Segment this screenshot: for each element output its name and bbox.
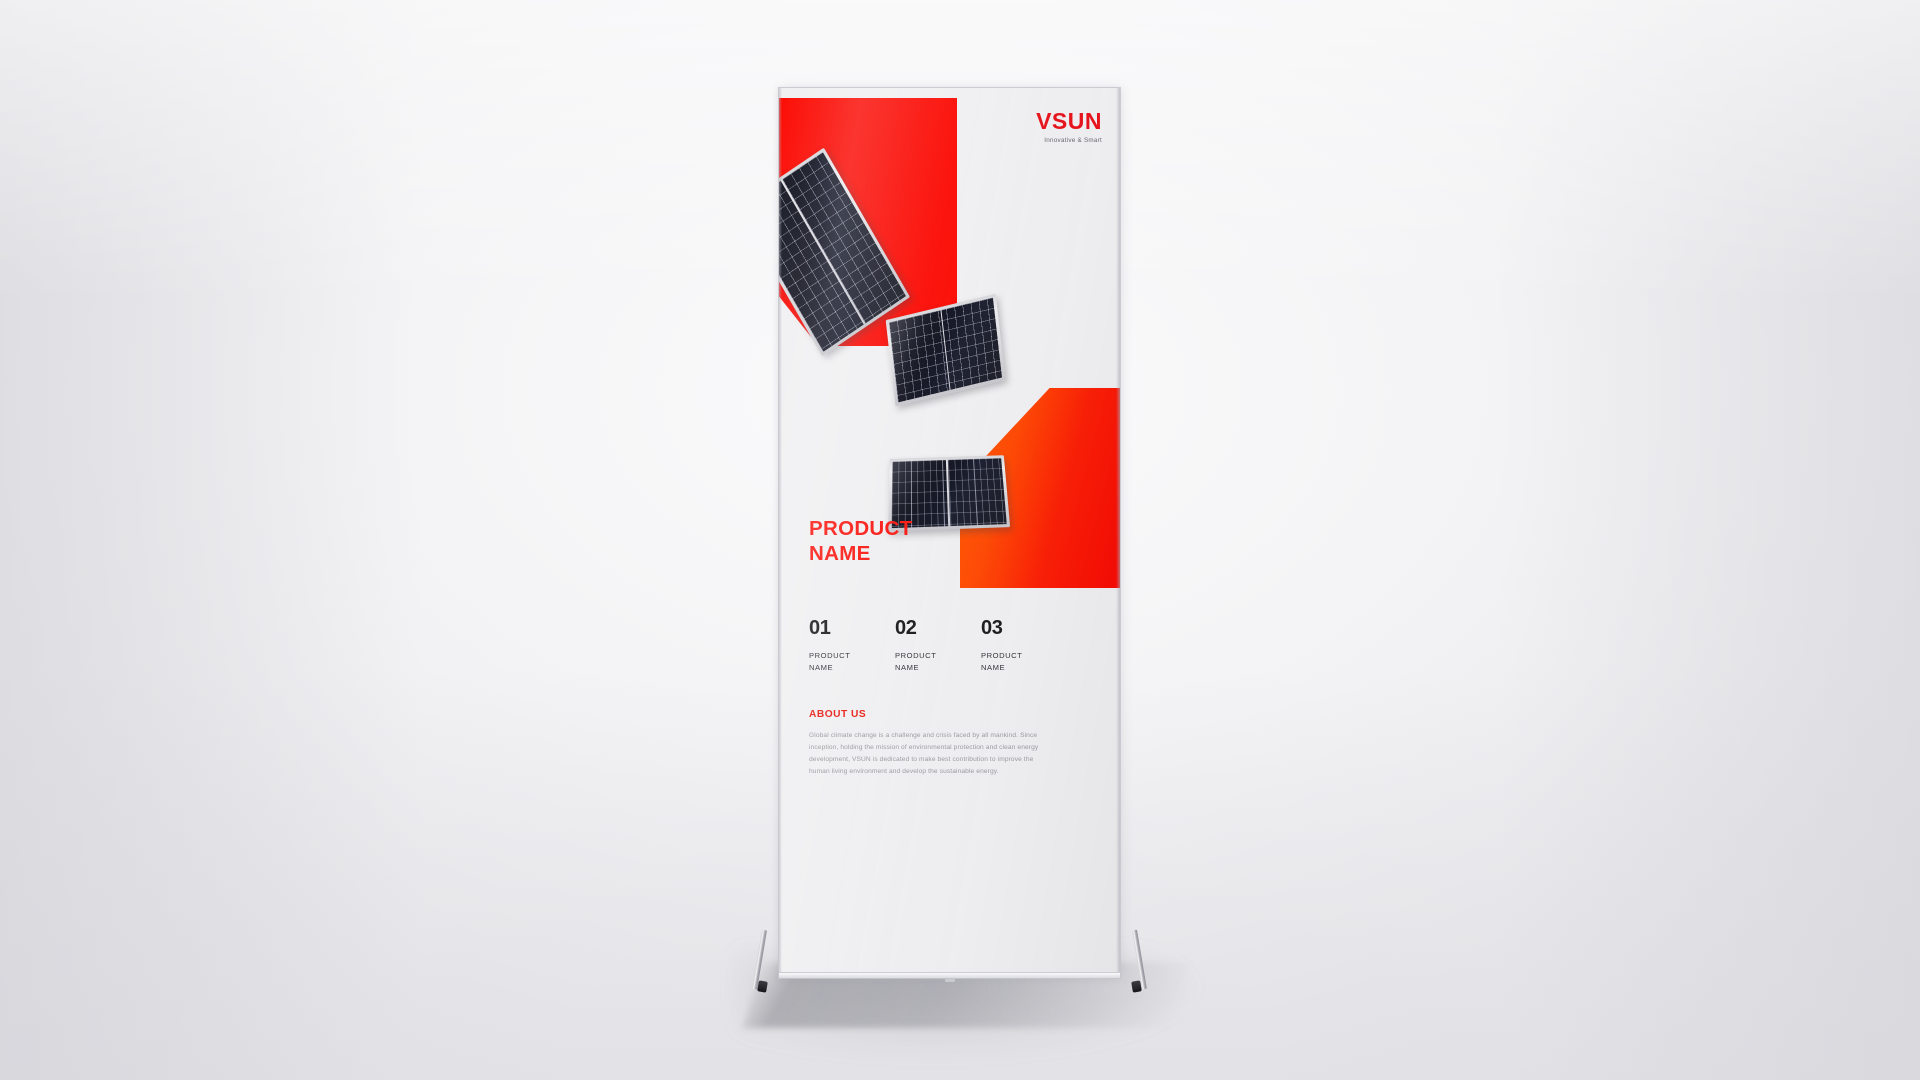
feature-label-line-2: NAME (809, 662, 895, 674)
about-body-text: Global climate change is a challenge and… (809, 730, 1044, 778)
feature-label-line-1: PRODUCT (809, 650, 895, 662)
feature-label: PRODUCT NAME (895, 650, 981, 674)
feature-label-line-2: NAME (981, 662, 1067, 674)
feature-label-line-2: NAME (895, 662, 981, 674)
feature-number: 01 (809, 618, 895, 638)
headline-line-1: PRODUCT (809, 516, 1098, 541)
feature-label: PRODUCT NAME (981, 650, 1067, 674)
banner-face[interactable]: VSUN Innovative & Smart PRODUCT NAME 01 … (779, 88, 1120, 978)
banner-bottom-rail (779, 972, 1120, 978)
headline-line-2: NAME (809, 541, 1098, 566)
product-headline: PRODUCT NAME (809, 516, 1098, 566)
feature-item-01: 01 PRODUCT NAME (809, 618, 895, 674)
feature-label-line-1: PRODUCT (981, 650, 1067, 662)
about-section: ABOUT US Global climate change is a chal… (809, 709, 1098, 778)
about-heading: ABOUT US (809, 709, 1098, 720)
banner-content: PRODUCT NAME 01 PRODUCT NAME 02 PRODUCT … (809, 516, 1098, 778)
stand-foot-cap-right (1131, 980, 1142, 992)
feature-label-line-1: PRODUCT (895, 650, 981, 662)
logo-tagline: Innovative & Smart (1036, 137, 1102, 144)
vsun-logo: VSUN Innovative & Smart (1036, 110, 1102, 144)
feature-number: 03 (981, 618, 1067, 638)
logo-wordmark: VSUN (1036, 110, 1102, 133)
feature-item-03: 03 PRODUCT NAME (981, 618, 1067, 674)
feature-number: 02 (895, 618, 981, 638)
feature-list: 01 PRODUCT NAME 02 PRODUCT NAME 03 (809, 618, 1098, 674)
banner-center-pin (945, 979, 955, 982)
banner-stand: VSUN Innovative & Smart PRODUCT NAME 01 … (779, 88, 1120, 988)
feature-label: PRODUCT NAME (809, 650, 895, 674)
feature-item-02: 02 PRODUCT NAME (895, 618, 981, 674)
stand-foot-cap-left (757, 980, 768, 992)
